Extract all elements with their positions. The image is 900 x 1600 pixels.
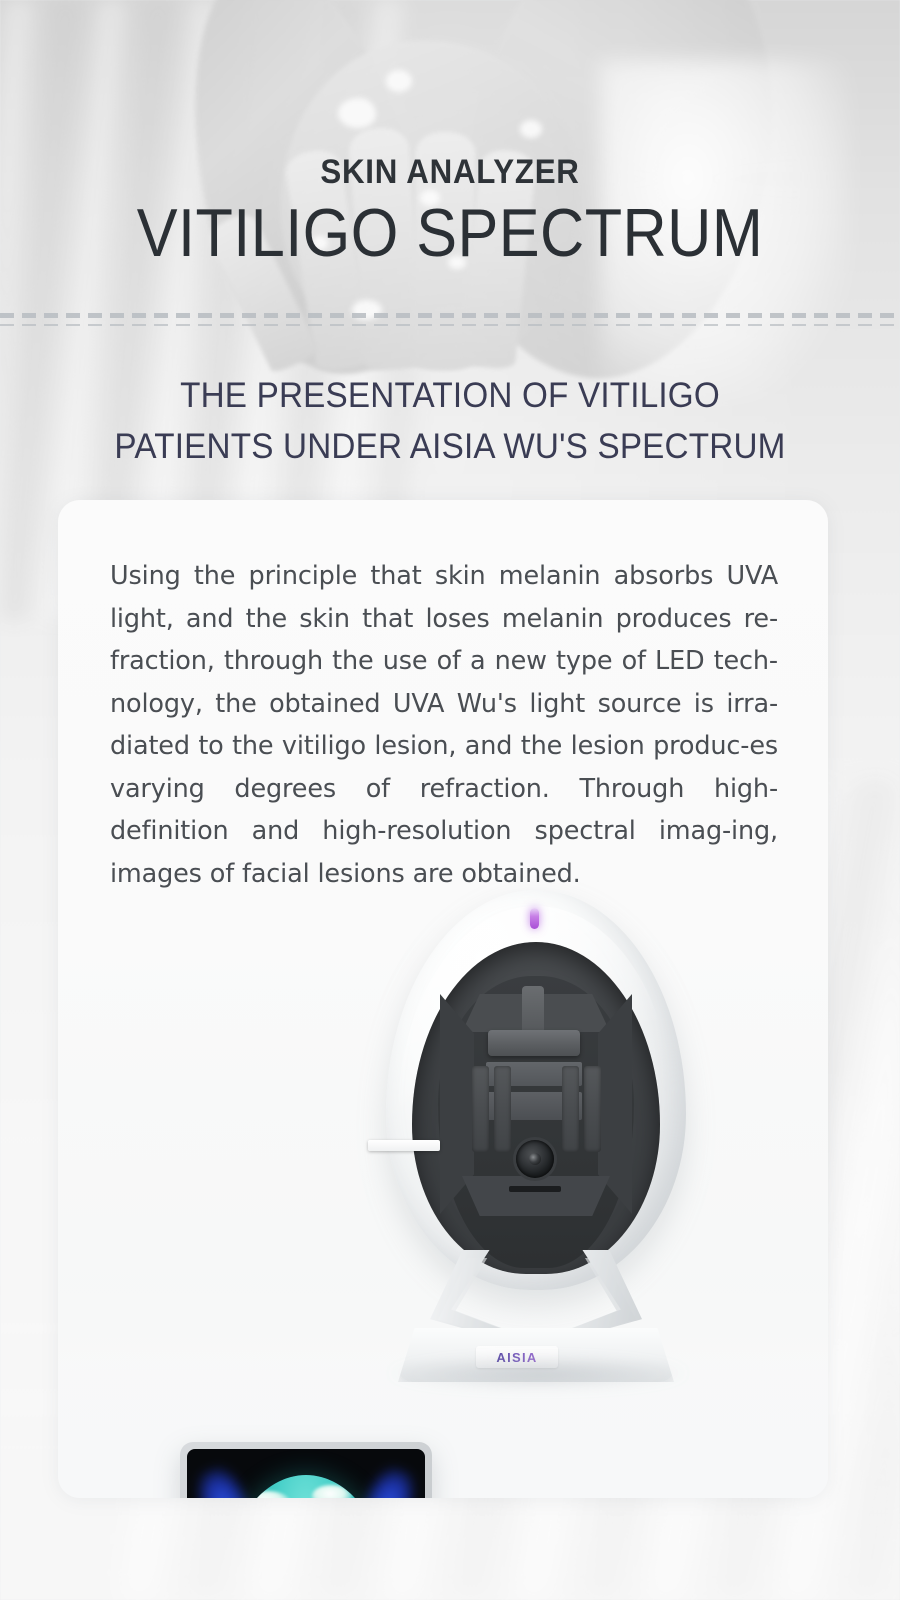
device-headrest-pad [488, 1030, 580, 1056]
skin-analyzer-device: AISIA [376, 890, 696, 1390]
uv-led-strip [584, 1066, 601, 1152]
subtitle-line-2: PATIENTS UNDER AISIA WU'S SPECTRUM [23, 421, 878, 472]
uv-led-strip [562, 1066, 579, 1152]
content-card: Using the principle that skin melanin ab… [58, 500, 828, 1498]
lesion-spot [244, 1491, 290, 1498]
lesion-spot [312, 1485, 352, 1498]
tablet-device [180, 1442, 432, 1498]
dashed-line-thin [0, 324, 900, 326]
device-chin-rest-bar [368, 1140, 440, 1151]
tablet-screen [187, 1449, 425, 1498]
dashed-line-thick [0, 313, 900, 318]
uv-glow-left [189, 1461, 259, 1498]
device-headrest-post [522, 986, 544, 1034]
page-title: VITILIGO SPECTRUM [45, 197, 855, 270]
subtitle: THE PRESENTATION OF VITILIGO PATIENTS UN… [23, 370, 878, 472]
camera-lens-icon [516, 1140, 554, 1178]
poster-page: SKIN ANALYZER VITILIGO SPECTRUM THE PRES… [0, 0, 900, 1600]
camera-mount-bar [509, 1186, 561, 1192]
uv-glow-right [353, 1461, 423, 1498]
kicker-title: SKIN ANALYZER [36, 155, 864, 191]
chamber-facet-bottom [462, 1176, 610, 1216]
dashed-divider [0, 313, 900, 329]
uv-led-strip [494, 1066, 511, 1152]
product-photo: AISIA AISIA [58, 870, 828, 1498]
power-led-icon [530, 908, 539, 929]
uv-led-strip [472, 1066, 489, 1152]
subtitle-line-1: THE PRESENTATION OF VITILIGO [23, 370, 878, 421]
scanned-face [226, 1475, 386, 1498]
poster-header: SKIN ANALYZER VITILIGO SPECTRUM [0, 0, 900, 270]
description-paragraph: Using the principle that skin melanin ab… [110, 555, 778, 895]
device-ground-shadow [388, 1356, 688, 1390]
uv-face-scan-image [187, 1449, 425, 1498]
